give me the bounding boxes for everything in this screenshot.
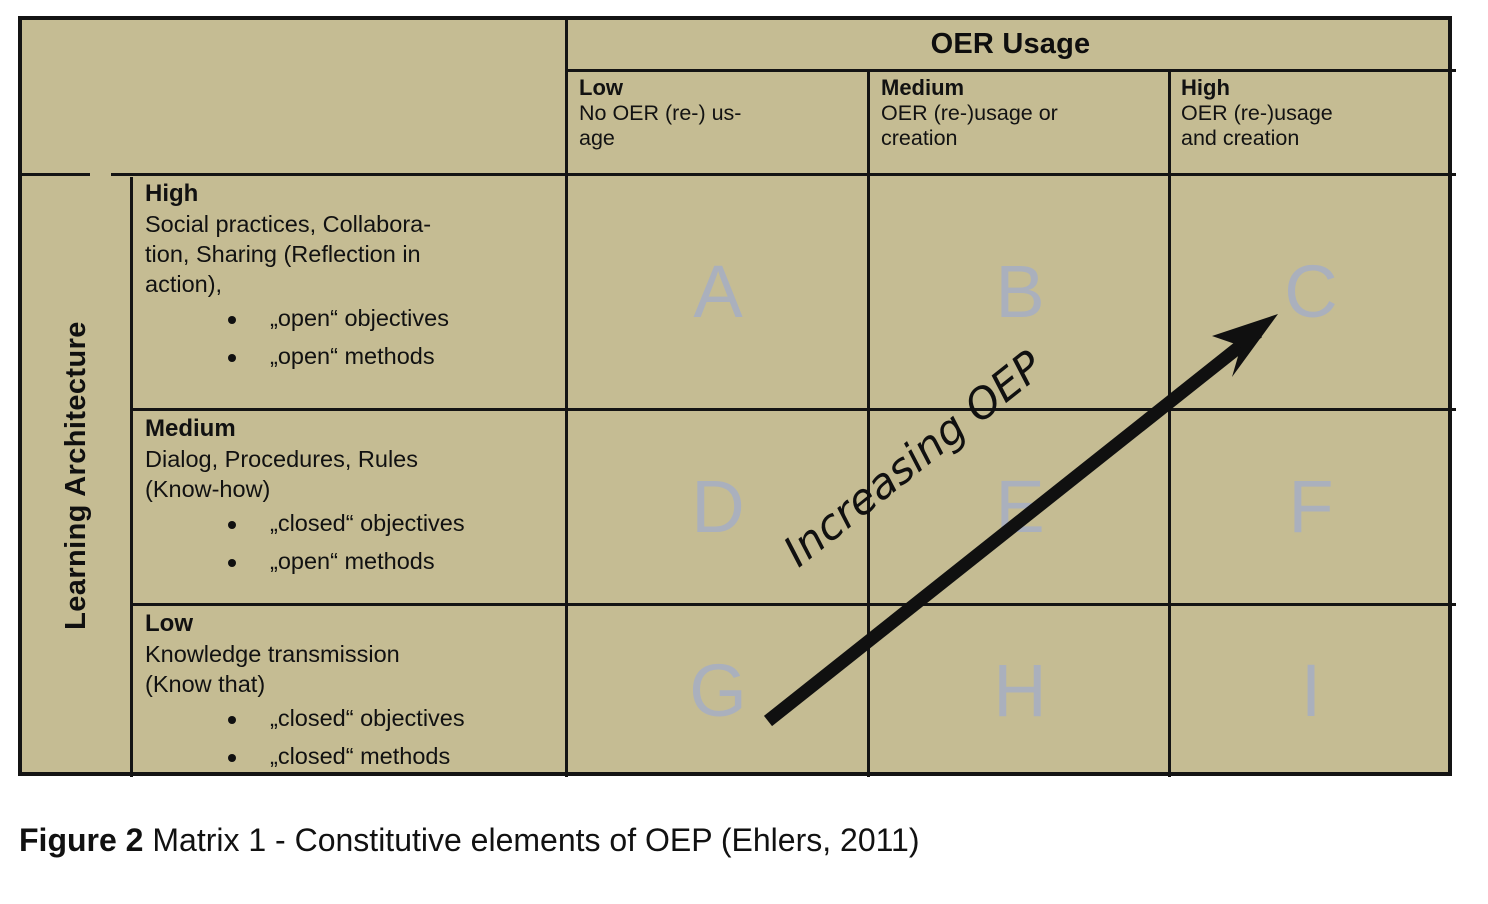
grid-hrule-row1-bottom <box>130 408 1456 411</box>
row-header-medium-bullet-list: „closed“ objectives „open“ methods <box>145 504 565 580</box>
column-header-low-title: Low <box>579 75 867 101</box>
row-header-high-desc-line-3: action), <box>145 269 565 299</box>
row-header-high-desc-line-1: Social practices, Collabora- <box>145 209 565 239</box>
column-header-high-desc-line-1: OER (re-)usage <box>1181 101 1451 126</box>
row-header-low-desc-line-2: (Know that) <box>145 669 565 699</box>
matrix-cell-e: E <box>871 412 1169 602</box>
column-header-high-title: High <box>1181 75 1451 101</box>
list-item: „closed“ objectives <box>145 504 565 542</box>
row-header-high-bullet-list: „open“ objectives „open“ methods <box>145 299 565 375</box>
figure-caption-text: Matrix 1 - Constitutive elements of OEP … <box>143 822 919 858</box>
figure-container: OER Usage Low No OER (re-) us- age Mediu… <box>0 0 1488 904</box>
corner-blank-cell <box>22 20 565 173</box>
row-header-high: High Social practices, Collabora- tion, … <box>133 177 565 407</box>
matrix-cell-b: B <box>871 177 1169 407</box>
matrix-cell-h: H <box>871 607 1169 774</box>
column-header-medium-desc-line-1: OER (re-)usage or <box>881 101 1169 126</box>
row-header-high-title: High <box>145 178 565 209</box>
row-header-medium: Medium Dialog, Procedures, Rules (Know-h… <box>133 412 565 602</box>
column-header-high: High OER (re-)usage and creation <box>1171 72 1451 170</box>
column-axis-title: OER Usage <box>569 22 1452 67</box>
matrix-cell-a: A <box>569 177 867 407</box>
row-axis-label-cell: Learning Architecture <box>22 177 130 774</box>
list-item: „closed“ objectives <box>145 699 565 737</box>
row-header-high-desc-line-2: tion, Sharing (Reflection in <box>145 239 565 269</box>
column-header-medium: Medium OER (re-)usage or creation <box>871 72 1169 170</box>
matrix-cell-g: G <box>569 607 867 774</box>
row-header-medium-title: Medium <box>145 413 565 444</box>
column-header-high-desc-line-2: and creation <box>1181 126 1451 151</box>
column-header-low-desc-line-1: No OER (re-) us- <box>579 101 867 126</box>
grid-hrule-header-bottom-right <box>111 173 1456 176</box>
row-header-low-bullet-list: „closed“ objectives „closed“ methods <box>145 699 565 775</box>
column-header-medium-title: Medium <box>881 75 1169 101</box>
list-item: „closed“ methods <box>145 737 565 775</box>
matrix-cell-i: I <box>1171 607 1451 774</box>
grid-hrule-row2-bottom <box>130 603 1456 606</box>
list-item: „open“ methods <box>145 337 565 375</box>
column-header-low-desc-line-2: age <box>579 126 867 151</box>
matrix-cell-d: D <box>569 412 867 602</box>
list-item: „open“ methods <box>145 542 565 580</box>
figure-caption-label: Figure 2 <box>19 822 143 858</box>
grid-hrule-header-bottom-left <box>21 173 90 176</box>
figure-caption: Figure 2 Matrix 1 - Constitutive element… <box>19 820 919 860</box>
row-header-medium-desc-line-1: Dialog, Procedures, Rules <box>145 444 565 474</box>
row-header-low-title: Low <box>145 608 565 639</box>
oep-matrix-table: OER Usage Low No OER (re-) us- age Mediu… <box>18 16 1452 776</box>
matrix-cell-c: C <box>1171 177 1451 407</box>
grid-vrule-col1 <box>565 19 568 777</box>
list-item: „open“ objectives <box>145 299 565 337</box>
column-header-medium-desc-line-2: creation <box>881 126 1169 151</box>
matrix-cell-f: F <box>1171 412 1451 602</box>
row-axis-title: Learning Architecture <box>22 177 130 774</box>
row-header-low-desc-line-1: Knowledge transmission <box>145 639 565 669</box>
row-header-medium-desc-line-2: (Know-how) <box>145 474 565 504</box>
column-header-low: Low No OER (re-) us- age <box>569 72 867 170</box>
row-header-low: Low Knowledge transmission (Know that) „… <box>133 607 565 774</box>
